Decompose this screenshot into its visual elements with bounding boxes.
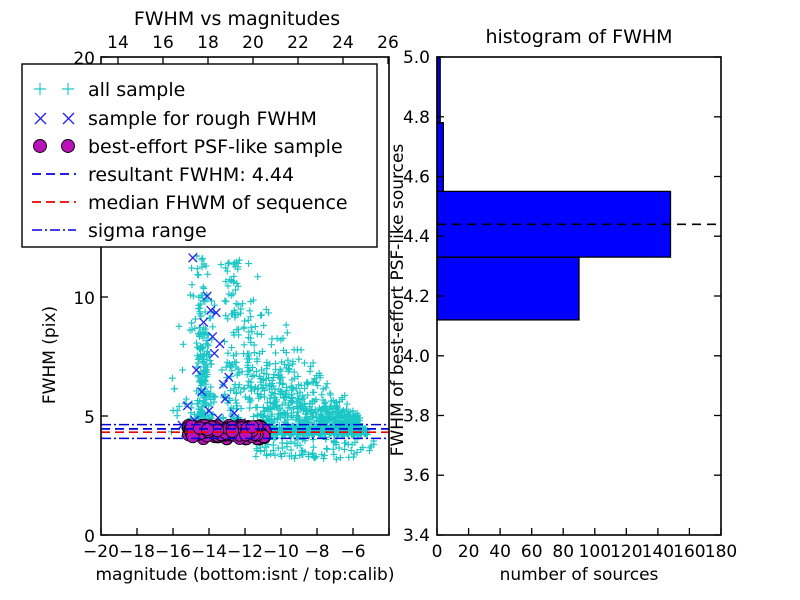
plus-marker	[223, 298, 230, 305]
plus-marker	[208, 361, 215, 368]
plus-marker	[301, 360, 308, 367]
plus-marker	[284, 329, 291, 336]
right-x-ticks	[437, 528, 721, 535]
cross-marker	[216, 340, 224, 348]
bottom-tick-label: −10	[263, 542, 299, 562]
plus-marker	[307, 368, 314, 375]
y-tick-label: 10	[73, 289, 95, 309]
cross-marker	[210, 349, 218, 357]
plus-marker	[257, 312, 264, 319]
psf-circle-marker	[226, 425, 238, 437]
psf-circle-marker	[246, 421, 258, 433]
x-tick-label: 160	[673, 542, 705, 562]
x-tick-label: 100	[579, 542, 611, 562]
top-tick-label: 16	[152, 33, 174, 53]
plus-marker	[277, 366, 284, 373]
plus-marker	[183, 396, 190, 403]
plus-marker	[251, 349, 258, 356]
plus-marker	[233, 359, 240, 366]
plus-marker	[228, 344, 235, 351]
x-tick-label: 80	[552, 542, 574, 562]
plus-marker	[241, 318, 248, 325]
plus-marker	[188, 265, 195, 272]
plus-marker	[246, 405, 253, 412]
right-x-axis-label: number of sources	[500, 565, 659, 585]
top-tick-label: 26	[377, 33, 399, 53]
plus-marker	[224, 268, 231, 275]
histogram-bar	[437, 257, 579, 320]
circle-icon	[62, 140, 75, 153]
plus-marker	[274, 335, 281, 342]
plus-marker	[180, 341, 187, 348]
right-y-axis-label: FWHM of best-effort PSF-like sources	[388, 144, 408, 457]
plus-marker	[171, 385, 178, 392]
y-tick-label: 5	[84, 408, 95, 428]
x-tick-label: 180	[705, 542, 737, 562]
plus-marker	[250, 413, 257, 420]
plus-marker	[337, 454, 344, 461]
plus-marker	[344, 401, 351, 408]
legend-label: resultant FWHM: 4.44	[88, 164, 294, 186]
plus-marker	[288, 439, 295, 446]
plus-marker	[209, 323, 216, 330]
circle-icon	[34, 140, 47, 153]
plus-marker	[294, 346, 301, 353]
left-bottom-ticklabels: −20 −18 −16 −14 −12 −10 −8 −6	[83, 542, 365, 562]
legend-label: median FHWM of sequence	[88, 192, 348, 214]
plus-marker	[272, 452, 279, 459]
plus-marker	[254, 273, 261, 280]
plus-marker	[272, 350, 279, 357]
y-tick-label: 4.8	[403, 108, 430, 128]
plus-marker	[199, 264, 206, 271]
plus-marker	[169, 375, 176, 382]
plus-marker	[221, 297, 228, 304]
x-tick-label: 0	[432, 542, 443, 562]
plus-marker	[258, 331, 265, 338]
x-tick-label: 120	[610, 542, 642, 562]
plus-marker	[248, 388, 255, 395]
plus-marker	[188, 320, 195, 327]
plus-marker	[285, 357, 292, 364]
plus-marker	[245, 260, 252, 267]
plus-marker	[253, 453, 260, 460]
left-y-axis-label: FWHM (pix)	[40, 306, 60, 404]
plus-marker	[324, 380, 331, 387]
matplotlib-figure: FWHM vs magnitudes 14 16 18 20 22 24 26	[0, 0, 800, 600]
top-tick-label: 20	[242, 33, 264, 53]
histogram-bar	[437, 123, 443, 192]
left-plot-title: FWHM vs magnitudes	[134, 8, 340, 30]
plus-marker	[194, 271, 201, 278]
plus-marker	[179, 367, 186, 374]
plus-marker	[204, 271, 211, 278]
plus-marker	[288, 447, 295, 454]
plus-marker	[200, 284, 207, 291]
right-panel-histogram: histogram of FWHM 0204060801001201401601…	[388, 26, 737, 585]
left-panel-scatter: FWHM vs magnitudes 14 16 18 20 22 24 26	[22, 8, 399, 585]
left-top-axis-ticklabels: 14 16 18 20 22 24 26	[107, 33, 399, 53]
plus-marker	[176, 323, 183, 330]
cross-marker	[189, 254, 197, 262]
legend[interactable]: all sample sample for rough FWHM best-ef…	[22, 64, 377, 247]
left-top-ticks	[118, 57, 388, 64]
plus-marker	[272, 360, 279, 367]
plus-marker	[341, 440, 348, 447]
legend-label: sample for rough FWHM	[88, 108, 317, 130]
plus-marker	[254, 404, 261, 411]
legend-label: all sample	[88, 79, 185, 101]
bottom-tick-label: −18	[119, 542, 155, 562]
plus-marker	[252, 323, 259, 330]
plus-marker	[211, 302, 218, 309]
plus-marker	[295, 356, 302, 363]
plus-marker	[348, 447, 355, 454]
plus-marker	[327, 390, 334, 397]
plus-marker	[239, 300, 246, 307]
plus-marker	[189, 281, 196, 288]
bottom-tick-label: −12	[227, 542, 263, 562]
plus-marker	[310, 436, 317, 443]
top-tick-label: 14	[107, 33, 129, 53]
plus-marker	[268, 341, 275, 348]
plus-marker	[245, 368, 252, 375]
plus-marker	[310, 444, 317, 451]
left-bottom-ticks	[101, 528, 389, 535]
y-tick-label: 5.0	[403, 48, 430, 68]
x-tick-label: 40	[489, 542, 511, 562]
plus-marker	[229, 367, 236, 374]
histogram-bars	[437, 57, 671, 320]
plus-marker	[260, 322, 267, 329]
plus-marker	[187, 292, 194, 299]
plus-marker	[318, 391, 325, 398]
bottom-tick-label: −14	[191, 542, 227, 562]
x-tick-label: 20	[458, 542, 480, 562]
plus-marker	[190, 293, 197, 300]
plus-marker	[246, 307, 253, 314]
top-tick-label: 22	[287, 33, 309, 53]
plus-marker	[283, 440, 290, 447]
plus-marker	[226, 259, 233, 266]
y-tick-label: 3.4	[403, 526, 430, 546]
x-tick-label: 140	[642, 542, 674, 562]
figure-canvas: FWHM vs magnitudes 14 16 18 20 22 24 26	[0, 0, 800, 600]
plus-marker	[283, 322, 290, 329]
plus-marker	[241, 341, 248, 348]
x-tick-label: 60	[521, 542, 543, 562]
plus-marker	[305, 380, 312, 387]
y-tick-label: 0	[84, 527, 95, 547]
plus-marker	[200, 285, 207, 292]
plus-marker	[192, 316, 199, 323]
plus-marker	[218, 261, 225, 268]
plus-marker	[341, 446, 348, 453]
right-plot-title: histogram of FWHM	[485, 26, 672, 48]
plus-marker	[195, 360, 202, 367]
plus-marker	[194, 265, 201, 272]
top-tick-label: 24	[332, 33, 354, 53]
bottom-tick-label: −16	[155, 542, 191, 562]
plus-marker	[323, 445, 330, 452]
left-x-axis-label: magnitude (bottom:isnt / top:calib)	[96, 565, 395, 585]
bottom-tick-label: −8	[304, 542, 329, 562]
plus-marker	[350, 454, 357, 461]
top-tick-label: 18	[197, 33, 219, 53]
y-tick-label: 3.6	[403, 466, 430, 486]
bottom-tick-label: −6	[340, 542, 365, 562]
legend-label: sigma range	[88, 220, 207, 242]
right-x-ticklabels: 020406080100120140160180	[432, 542, 738, 562]
legend-label: best-effort PSF-like sample	[88, 136, 343, 158]
